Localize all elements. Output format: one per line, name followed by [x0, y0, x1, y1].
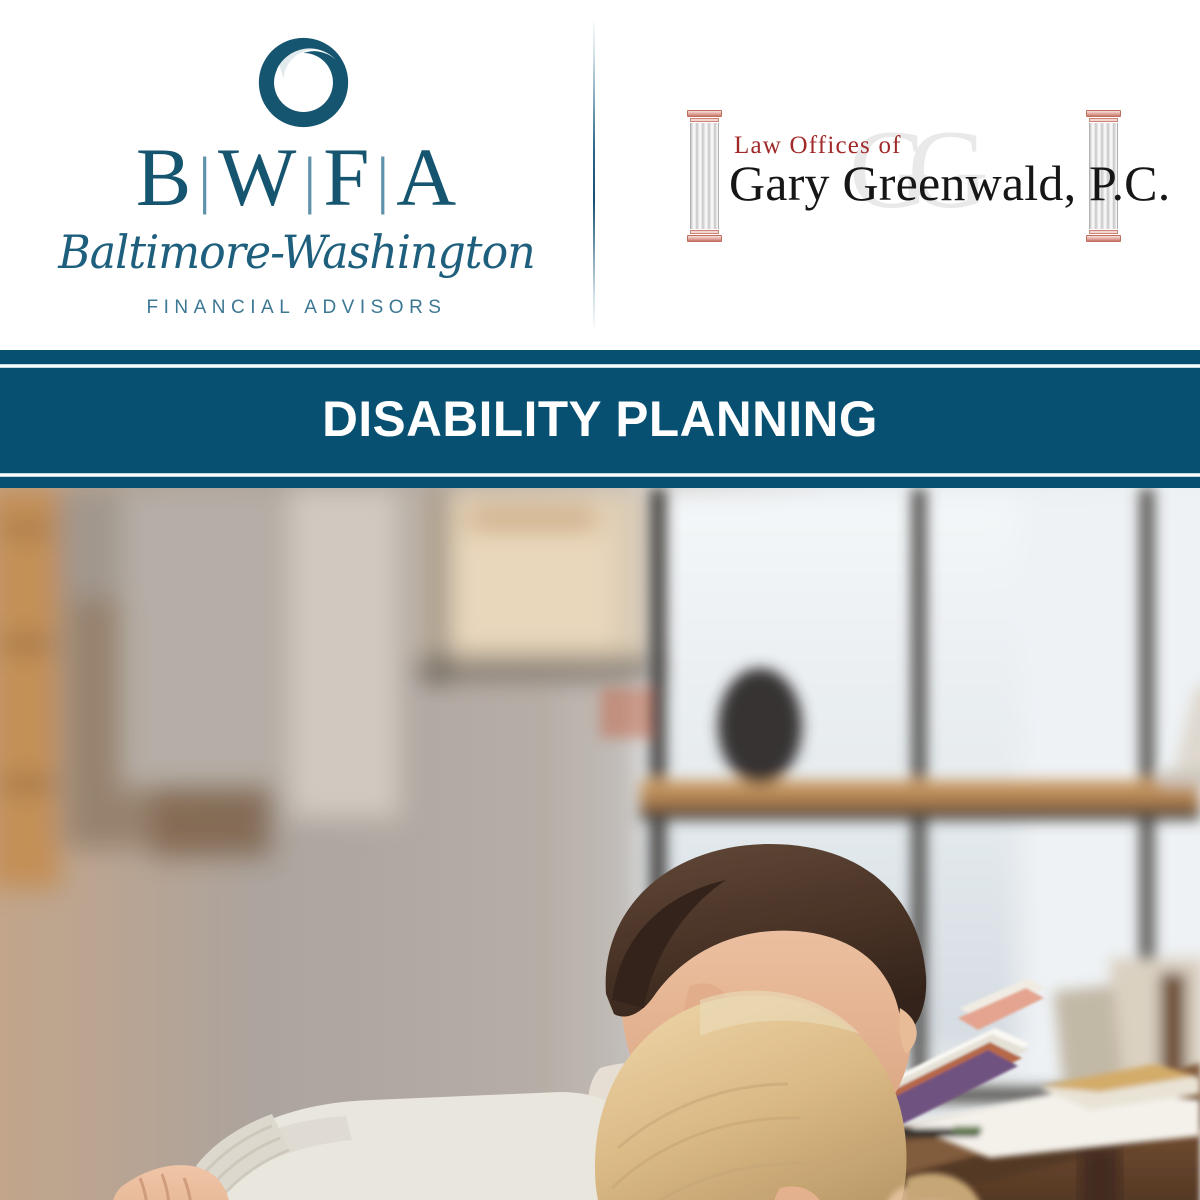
bwfa-letter-w: W [218, 131, 297, 223]
bwfa-separator-2: | [303, 144, 317, 215]
band-rule-bottom [0, 473, 1200, 477]
bwfa-tagline: FINANCIAL ADVISORS [0, 296, 593, 320]
greenwald-firm-name: Gary Greenwald, P.C. [729, 152, 1170, 214]
hero-photo [0, 488, 1200, 1200]
bwfa-circle-swoosh-icon [256, 35, 351, 130]
bwfa-letter-a: A [396, 131, 457, 223]
classical-column-left-icon [689, 110, 720, 242]
bwfa-logo: B|W|F|A Baltimore-Washington FINANCIAL A… [0, 0, 593, 350]
bwfa-letter-b: B [136, 131, 192, 223]
bwfa-script-name: Baltimore-Washington [12, 222, 581, 282]
promo-graphic: B|W|F|A Baltimore-Washington FINANCIAL A… [0, 0, 1200, 1200]
bwfa-separator-3: | [376, 144, 390, 215]
page-title: DISABILITY PLANNING [6, 350, 1194, 488]
greenwald-logo: GG Law Offices of Gary Greenwald, P.C. [593, 0, 1200, 350]
bwfa-letters: B|W|F|A [0, 136, 593, 225]
logo-header: B|W|F|A Baltimore-Washington FINANCIAL A… [0, 0, 1200, 350]
title-band: DISABILITY PLANNING [0, 350, 1200, 488]
bwfa-letter-f: F [323, 131, 370, 223]
bwfa-separator-1: | [198, 144, 212, 215]
